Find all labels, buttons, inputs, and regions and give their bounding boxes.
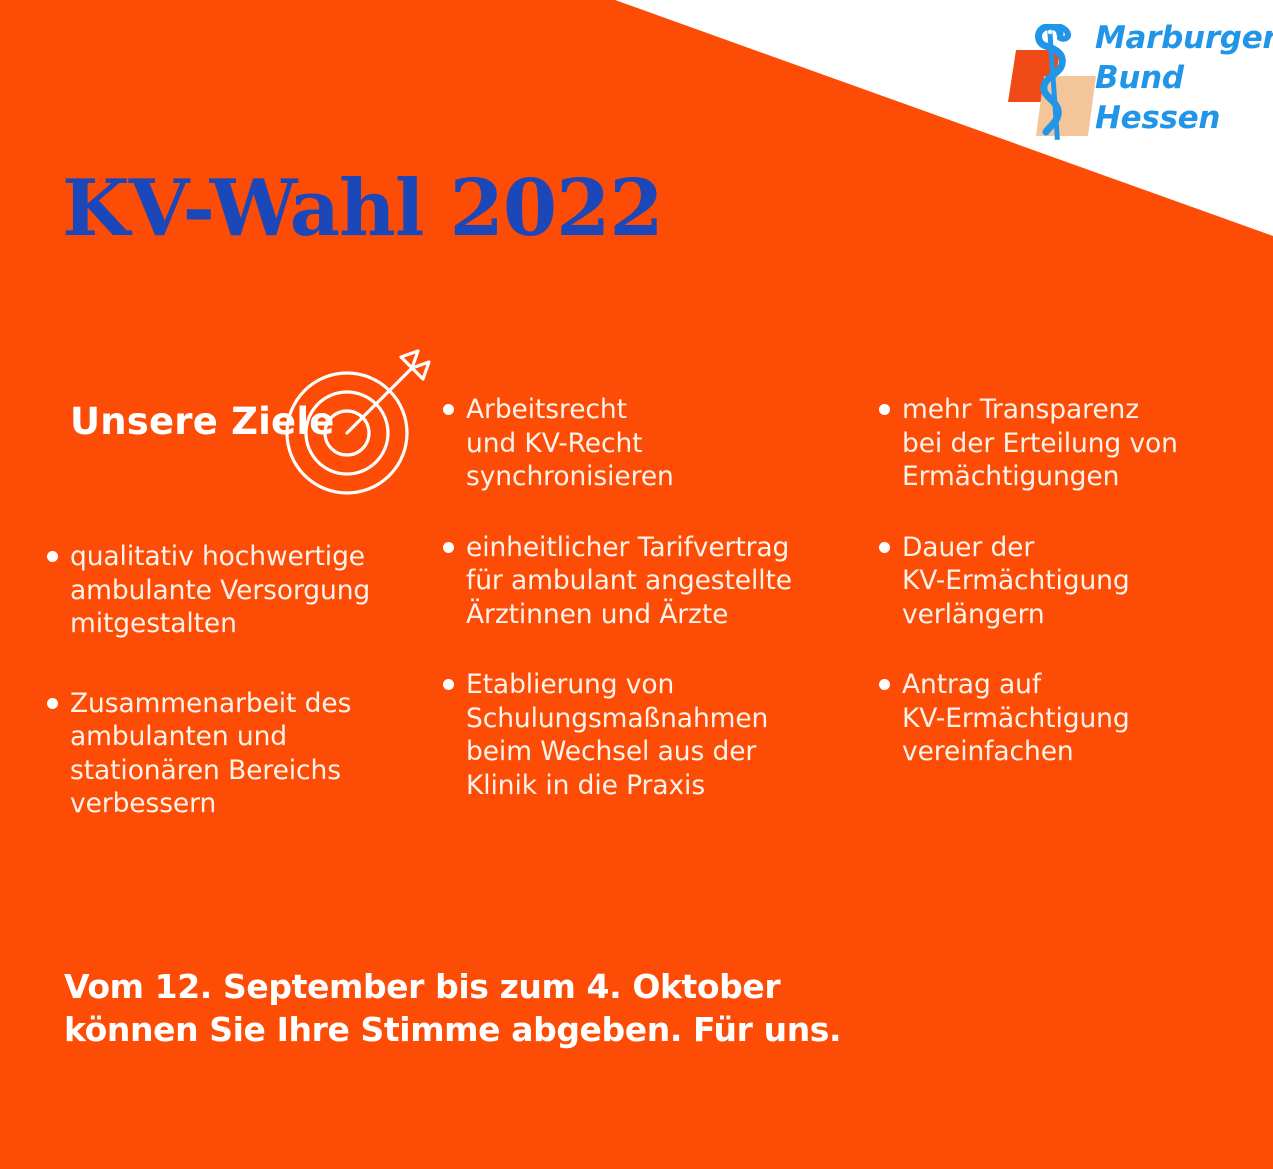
list-item: Etablierung von Schulungsmaßnahmen beim … <box>440 668 840 802</box>
bullet-dot-icon <box>443 679 454 690</box>
marburger-bund-hessen-logo[interactable]: Marburger Bund Hessen <box>1008 18 1263 143</box>
poster-title: KV-Wahl 2022 <box>62 168 663 250</box>
voting-period-text: Vom 12. September bis zum 4. Oktober kön… <box>64 965 841 1051</box>
bullet-dot-icon <box>879 679 890 690</box>
list-item-label: Arbeitsrecht und KV-Recht synchronisiere… <box>466 393 840 494</box>
list-item-label: einheitlicher Tarifvertrag für ambulant … <box>466 531 840 632</box>
list-item-label: Etablierung von Schulungsmaßnahmen beim … <box>466 668 840 802</box>
bullet-dot-icon <box>443 404 454 415</box>
list-item-label: Dauer der KV-Ermächtigung verlängern <box>902 531 1226 632</box>
logo-wordmark: Marburger Bund Hessen <box>1095 18 1265 143</box>
bullet-dot-icon <box>47 551 58 562</box>
bullet-dot-icon <box>443 542 454 553</box>
list-item: einheitlicher Tarifvertrag für ambulant … <box>440 531 840 632</box>
asclepius-staff-with-snake-icon <box>1008 24 1108 142</box>
goals-column-1: qualitativ hochwertige ambulante Versorg… <box>44 540 439 821</box>
list-item: Antrag auf KV-Ermächtigung vereinfachen <box>876 668 1226 769</box>
list-item: Arbeitsrecht und KV-Recht synchronisiere… <box>440 393 840 494</box>
list-item-label: qualitativ hochwertige ambulante Versorg… <box>70 540 439 641</box>
list-item: mehr Transparenz bei der Erteilung von E… <box>876 393 1226 494</box>
bullet-dot-icon <box>879 542 890 553</box>
bullet-dot-icon <box>47 698 58 709</box>
logo-line-3: Hessen <box>1095 98 1265 138</box>
goals-heading: Unsere Ziele <box>70 400 335 444</box>
list-item: Dauer der KV-Ermächtigung verlängern <box>876 531 1226 632</box>
logo-line-2: Bund <box>1095 58 1265 98</box>
bullet-dot-icon <box>879 404 890 415</box>
list-item-label: Antrag auf KV-Ermächtigung vereinfachen <box>902 668 1226 769</box>
list-item-label: mehr Transparenz bei der Erteilung von E… <box>902 393 1226 494</box>
list-item: Zusammenarbeit des ambulanten und statio… <box>44 687 439 821</box>
goals-column-3: mehr Transparenz bei der Erteilung von E… <box>876 393 1226 769</box>
list-item-label: Zusammenarbeit des ambulanten und statio… <box>70 687 439 821</box>
poster-canvas: Marburger Bund Hessen KV-Wahl 2022 Unser… <box>0 0 1273 1169</box>
goals-column-2: Arbeitsrecht und KV-Recht synchronisiere… <box>440 393 840 802</box>
list-item: qualitativ hochwertige ambulante Versorg… <box>44 540 439 641</box>
logo-line-1: Marburger <box>1095 18 1265 58</box>
